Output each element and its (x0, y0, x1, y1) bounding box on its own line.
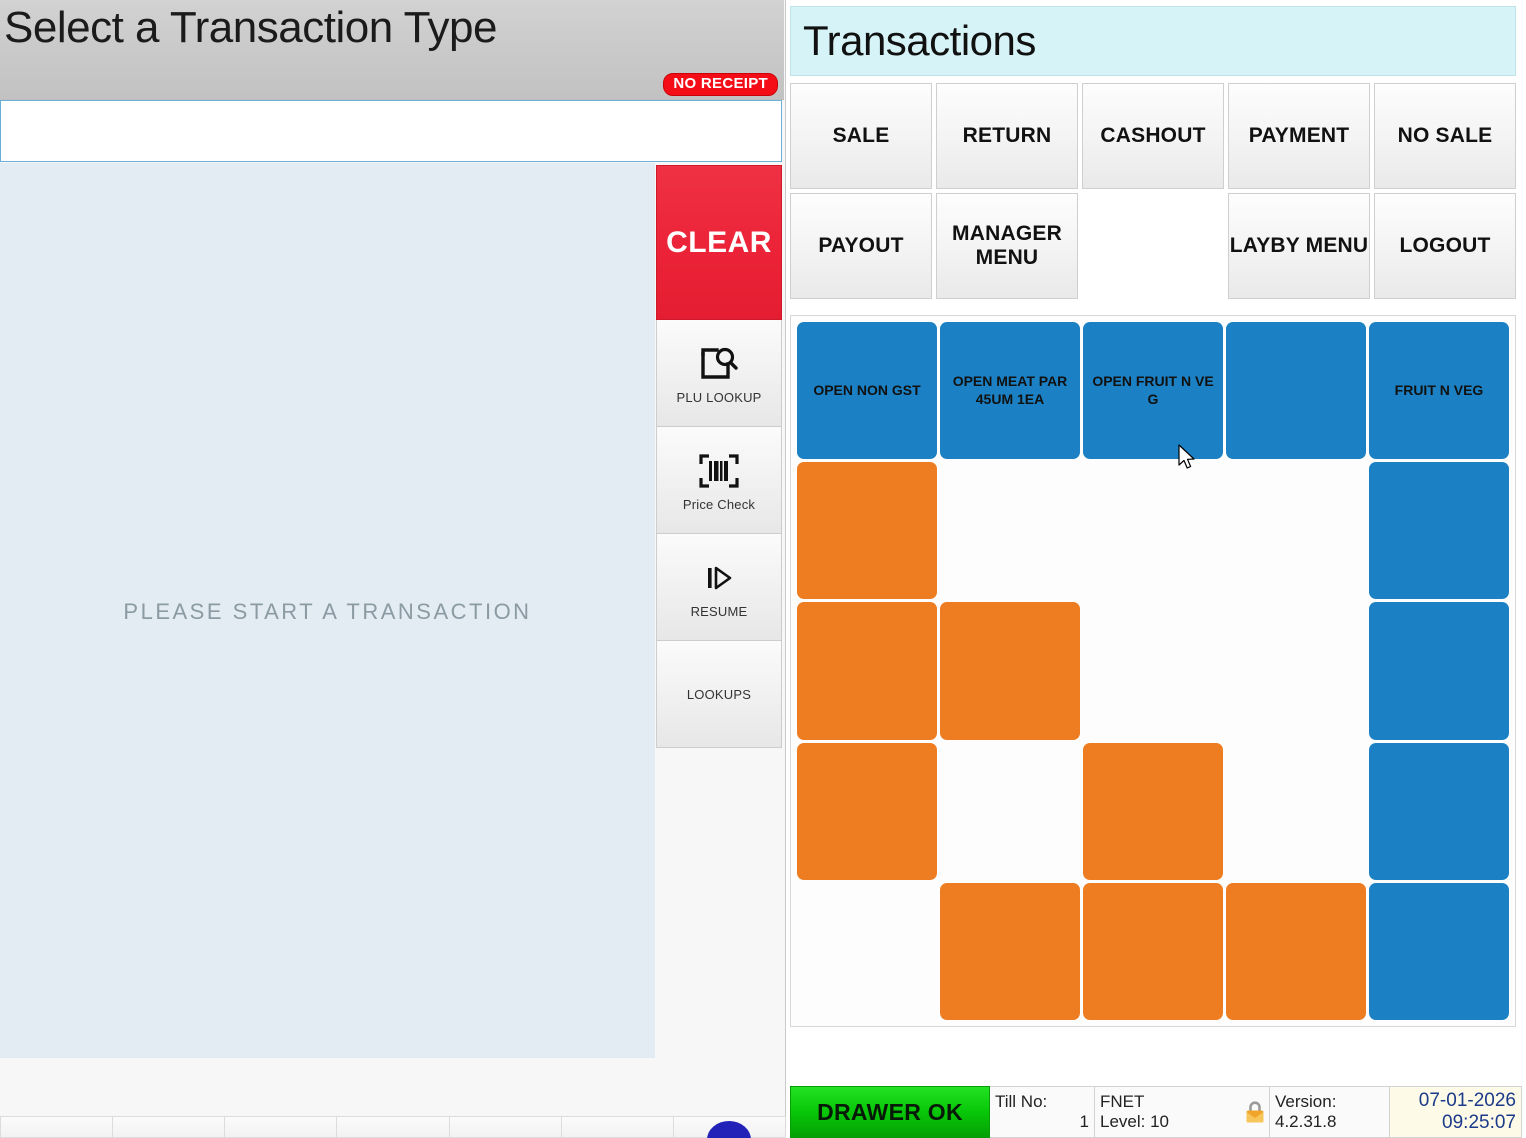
transaction-command-grid: SALE RETURN CASHOUT PAYMENT NO SALE PAYO… (790, 83, 1516, 299)
tile-empty (1083, 602, 1223, 739)
transactions-header: Transactions (790, 6, 1516, 76)
tile-empty (1226, 462, 1366, 599)
plu-lookup-label: PLU LOOKUP (676, 390, 761, 405)
no-sale-button[interactable]: NO SALE (1374, 83, 1516, 189)
lookups-label: LOOKUPS (687, 687, 751, 702)
strip-button[interactable] (336, 1116, 448, 1138)
price-check-label: Price Check (683, 497, 755, 512)
strip-button[interactable] (561, 1116, 673, 1138)
blue-blob-icon (707, 1121, 751, 1138)
version-value: 4.2.31.8 (1275, 1112, 1336, 1132)
tile-orange[interactable] (1226, 883, 1366, 1020)
payment-button[interactable]: PAYMENT (1228, 83, 1370, 189)
layby-menu-button[interactable]: LAYBY MENU (1228, 193, 1370, 299)
pos-screen: Select a Transaction Type NO RECEIPT PLE… (0, 0, 1526, 1138)
tile-blue[interactable] (1369, 883, 1509, 1020)
start-transaction-message: PLEASE START A TRANSACTION (0, 599, 655, 625)
tile-empty (940, 743, 1080, 880)
tile-orange[interactable] (1083, 883, 1223, 1020)
no-receipt-badge: NO RECEIPT (663, 73, 778, 96)
current-date: 07-01-2026 (1419, 1090, 1516, 1112)
tile-orange[interactable] (940, 602, 1080, 739)
version-cell: Version: 4.2.31.8 (1270, 1086, 1390, 1138)
lookups-button[interactable]: LOOKUPS (656, 641, 782, 748)
strip-button[interactable] (112, 1116, 224, 1138)
manager-menu-button[interactable]: MANAGER MENU (936, 193, 1078, 299)
network-name: FNET (1100, 1092, 1144, 1112)
version-label: Version: (1275, 1092, 1336, 1112)
lock-icon (1244, 1100, 1266, 1124)
left-panel: Select a Transaction Type NO RECEIPT PLE… (0, 0, 786, 1138)
network-level: Level: 10 (1100, 1112, 1169, 1132)
payout-button[interactable]: PAYOUT (790, 193, 932, 299)
tile-orange[interactable] (797, 462, 937, 599)
tile-orange[interactable] (797, 602, 937, 739)
tile-blue[interactable] (1369, 462, 1509, 599)
tile-empty (940, 462, 1080, 599)
sale-button[interactable]: SALE (790, 83, 932, 189)
till-value: 1 (1080, 1112, 1089, 1132)
tile-empty (1083, 462, 1223, 599)
tile-empty (1226, 743, 1366, 880)
plu-lookup-button[interactable]: PLU LOOKUP (656, 320, 782, 427)
bottom-button-strip (0, 1116, 786, 1138)
status-bar: DRAWER OK Till No: 1 FNET Level: 10 Vers… (790, 1086, 1522, 1138)
tile-open-meat-par[interactable]: OPEN MEAT PAR 45UM 1EA (940, 322, 1080, 459)
strip-button[interactable] (0, 1116, 112, 1138)
resume-icon (699, 556, 739, 600)
tile-empty (797, 883, 937, 1020)
transaction-display-area: PLEASE START A TRANSACTION (0, 163, 655, 1058)
product-tile-board: OPEN NON GST OPEN MEAT PAR 45UM 1EA OPEN… (790, 315, 1516, 1027)
tile-blue[interactable] (1369, 602, 1509, 739)
strip-button[interactable] (449, 1116, 561, 1138)
till-label: Till No: (995, 1092, 1047, 1112)
resume-label: RESUME (691, 604, 748, 619)
empty-command-slot (1082, 193, 1224, 299)
tile-blank-blue[interactable] (1226, 322, 1366, 459)
return-button[interactable]: RETURN (936, 83, 1078, 189)
clear-button[interactable]: CLEAR (656, 165, 782, 320)
strip-button[interactable] (224, 1116, 336, 1138)
transaction-entry-input[interactable] (0, 100, 782, 162)
plu-lookup-icon (699, 342, 739, 386)
tile-blue[interactable] (1369, 743, 1509, 880)
tile-open-fruit-n-veg[interactable]: OPEN FRUIT N VE G (1083, 322, 1223, 459)
drawer-status-badge[interactable]: DRAWER OK (790, 1086, 990, 1138)
till-number-cell: Till No: 1 (990, 1086, 1095, 1138)
tile-orange[interactable] (797, 743, 937, 880)
price-check-button[interactable]: Price Check (656, 427, 782, 534)
cashout-button[interactable]: CASHOUT (1082, 83, 1224, 189)
tile-orange[interactable] (1083, 743, 1223, 880)
transactions-title: Transactions (803, 17, 1036, 65)
tile-orange[interactable] (940, 883, 1080, 1020)
tile-fruit-n-veg[interactable]: FRUIT N VEG (1369, 322, 1509, 459)
page-title: Select a Transaction Type (4, 6, 497, 50)
barcode-icon (698, 449, 740, 493)
logout-button[interactable]: LOGOUT (1374, 193, 1516, 299)
tile-empty (1226, 602, 1366, 739)
strip-button[interactable] (673, 1116, 786, 1138)
right-panel: Transactions SALE RETURN CASHOUT PAYMENT… (786, 0, 1526, 1138)
tile-open-non-gst[interactable]: OPEN NON GST (797, 322, 937, 459)
left-header: Select a Transaction Type NO RECEIPT (0, 0, 784, 100)
action-button-column: CLEAR PLU LOOKUP (656, 165, 782, 748)
datetime-cell: 07-01-2026 09:25:07 (1390, 1086, 1522, 1138)
resume-button[interactable]: RESUME (656, 534, 782, 641)
current-time: 09:25:07 (1442, 1112, 1516, 1134)
